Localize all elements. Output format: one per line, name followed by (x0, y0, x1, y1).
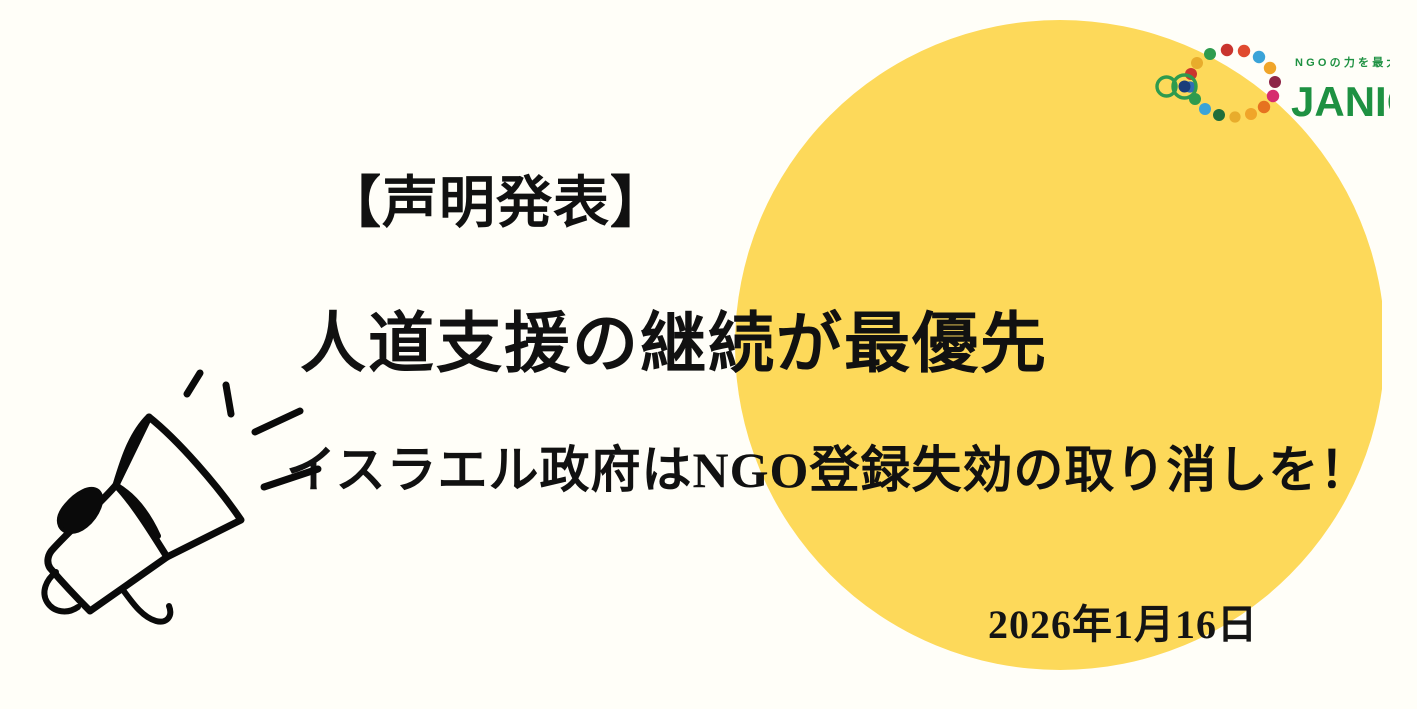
megaphone-mic-nub (59, 489, 101, 532)
sound-line-1 (187, 373, 200, 394)
logo-center-dot (1179, 81, 1191, 93)
kicker-label: 【声明発表】 (325, 158, 667, 239)
svg-text:NGOの力を最大化する: NGOの力を最大化する (1295, 55, 1390, 69)
sound-line-4 (264, 469, 318, 487)
megaphone-handle-grip (123, 590, 170, 622)
date-label: 2026年1月16日 (988, 592, 1258, 650)
logo-wordmark-text: JANIC (1291, 78, 1390, 125)
logo-tagline-text: NGOの力を最大化する (1295, 55, 1390, 69)
sound-line-3 (255, 411, 300, 432)
logo-dot-ring (1184, 44, 1281, 123)
page-title: 人道支援の継続が最優先 (300, 290, 1048, 386)
banner-canvas: NGOの力を最大化する JANIC 【声明発表】 人道支援の継続が最優先 イスラ… (0, 0, 1417, 709)
megaphone-illustration (28, 368, 328, 630)
janic-logo[interactable]: NGOの力を最大化する JANIC (1155, 40, 1390, 125)
sound-line-2 (226, 385, 231, 414)
subtitle: イスラエル政府はNGO登録失効の取り消しを！ (286, 430, 1370, 502)
